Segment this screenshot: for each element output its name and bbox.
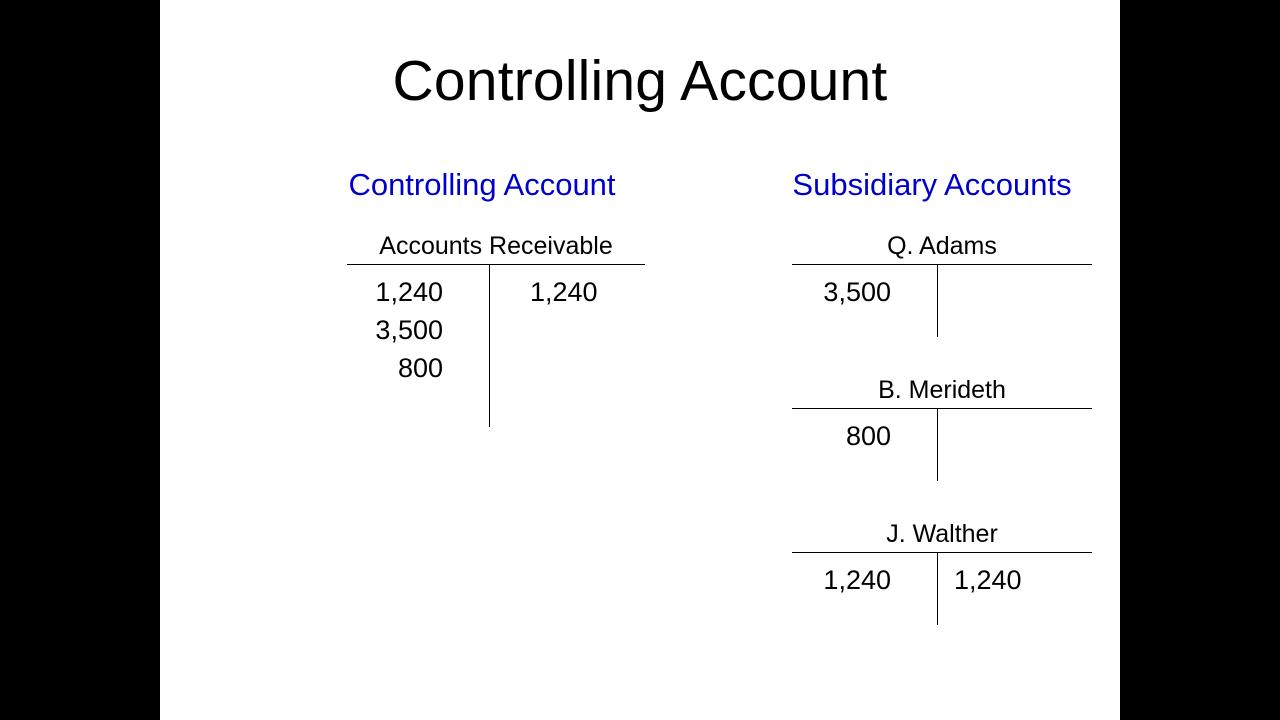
t-account-debit-column: 3,500 — [792, 265, 937, 311]
t-account-title: J. Walther — [792, 521, 1092, 552]
t-account-debit-column: 800 — [792, 409, 937, 455]
column-heading-controlling: Controlling Account — [322, 168, 642, 202]
credit-amount: 1,240 — [954, 561, 1092, 599]
t-account-vertical-divider — [937, 553, 938, 625]
t-account-q-adams: Q. Adams 3,500 — [792, 233, 1092, 311]
t-account-title: Q. Adams — [792, 233, 1092, 264]
slide-canvas: Controlling Account Controlling Account … — [160, 0, 1120, 720]
debit-amount: 1,240 — [792, 561, 891, 599]
debit-amount: 3,500 — [792, 273, 891, 311]
t-account-credit-column: 1,240 — [937, 553, 1092, 599]
page-title: Controlling Account — [160, 52, 1120, 112]
t-account-body: 3,500 — [792, 265, 1092, 311]
t-account-title: Accounts Receivable — [347, 233, 645, 264]
t-account-body: 800 — [792, 409, 1092, 455]
column-heading-subsidiary: Subsidiary Accounts — [772, 168, 1092, 202]
t-account-accounts-receivable: Accounts Receivable 1,240 3,500 800 1,24… — [347, 233, 645, 387]
debit-amount: 3,500 — [347, 311, 443, 349]
debit-amount: 1,240 — [347, 273, 443, 311]
t-account-credit-column: 1,240 — [489, 265, 645, 387]
letterbox-bar-left — [0, 0, 160, 720]
t-account-debit-column: 1,240 — [792, 553, 937, 599]
t-account-credit-column — [937, 409, 1092, 455]
slide-stage: Controlling Account Controlling Account … — [0, 0, 1280, 720]
t-account-vertical-divider — [937, 265, 938, 337]
t-account-title: B. Merideth — [792, 377, 1092, 408]
t-account-body: 1,240 3,500 800 1,240 — [347, 265, 645, 387]
t-account-vertical-divider — [937, 409, 938, 481]
letterbox-bar-right — [1120, 0, 1280, 720]
t-account-body: 1,240 1,240 — [792, 553, 1092, 599]
t-account-debit-column: 1,240 3,500 800 — [347, 265, 489, 387]
t-account-b-merideth: B. Merideth 800 — [792, 377, 1092, 455]
debit-amount: 800 — [347, 349, 443, 387]
t-account-j-walther: J. Walther 1,240 1,240 — [792, 521, 1092, 599]
debit-amount: 800 — [792, 417, 891, 455]
t-account-vertical-divider — [489, 265, 490, 427]
t-account-credit-column — [937, 265, 1092, 311]
credit-amount: 1,240 — [530, 273, 645, 311]
